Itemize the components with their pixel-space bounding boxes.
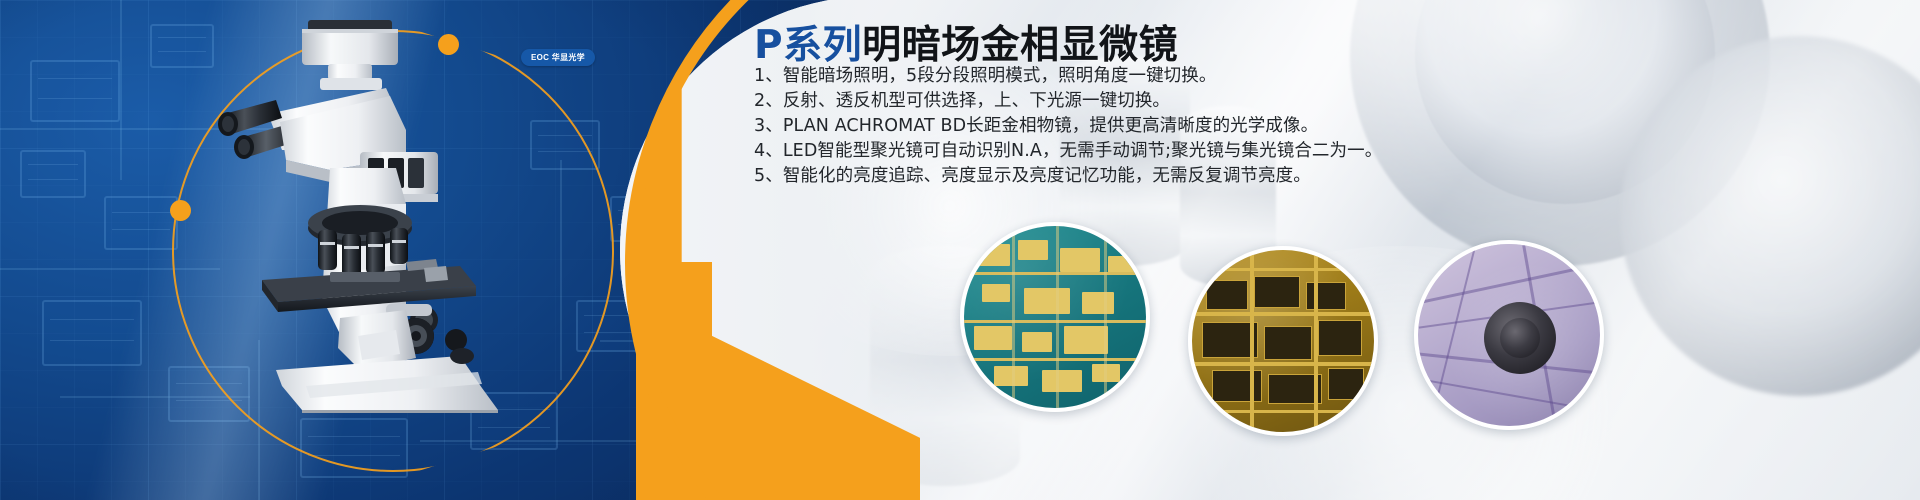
microscope-illustration: EOC 华显光学 bbox=[210, 18, 590, 413]
sample-image-teal-pcb bbox=[960, 222, 1150, 412]
feature-item: 5、智能化的亮度追踪、亮度显示及亮度记忆功能，无需反复调节亮度。 bbox=[754, 164, 1704, 189]
title-rest: 明暗场金相显微镜 bbox=[862, 23, 1178, 68]
brand-logo-badge: EOC 华显光学 bbox=[521, 49, 595, 66]
feature-item: 4、LED智能型聚光镜可自动识别N.A，无需手动调节;聚光镜与集光镜合二为一。 bbox=[754, 139, 1704, 164]
product-banner: EOC 华显光学 P系列明暗场金相显微镜 1、智能暗场照明，5段分段照明模式，照… bbox=[0, 0, 1920, 500]
feature-list: 1、智能暗场照明，5段分段照明模式，照明角度一键切换。 2、反射、透反机型可供选… bbox=[754, 64, 1704, 189]
feature-item: 1、智能暗场照明，5段分段照明模式，照明角度一键切换。 bbox=[754, 64, 1704, 89]
page-title: P系列明暗场金相显微镜 bbox=[754, 14, 1178, 70]
sample-image-golden-chip bbox=[1188, 246, 1378, 436]
brand-logo-text: EOC 华显光学 bbox=[531, 52, 585, 63]
feature-item: 2、反射、透反机型可供选择，上、下光源一键切换。 bbox=[754, 89, 1704, 114]
title-highlight: P系列 bbox=[754, 23, 862, 68]
sample-image-purple-grain bbox=[1414, 240, 1604, 430]
micrograph-teal bbox=[964, 226, 1146, 408]
micrograph-purple bbox=[1418, 244, 1600, 426]
feature-item: 3、PLAN ACHROMAT BD长距金相物镜，提供更高清晰度的光学成像。 bbox=[754, 114, 1704, 139]
decorative-dot-left bbox=[170, 200, 191, 221]
micrograph-gold bbox=[1192, 250, 1374, 432]
